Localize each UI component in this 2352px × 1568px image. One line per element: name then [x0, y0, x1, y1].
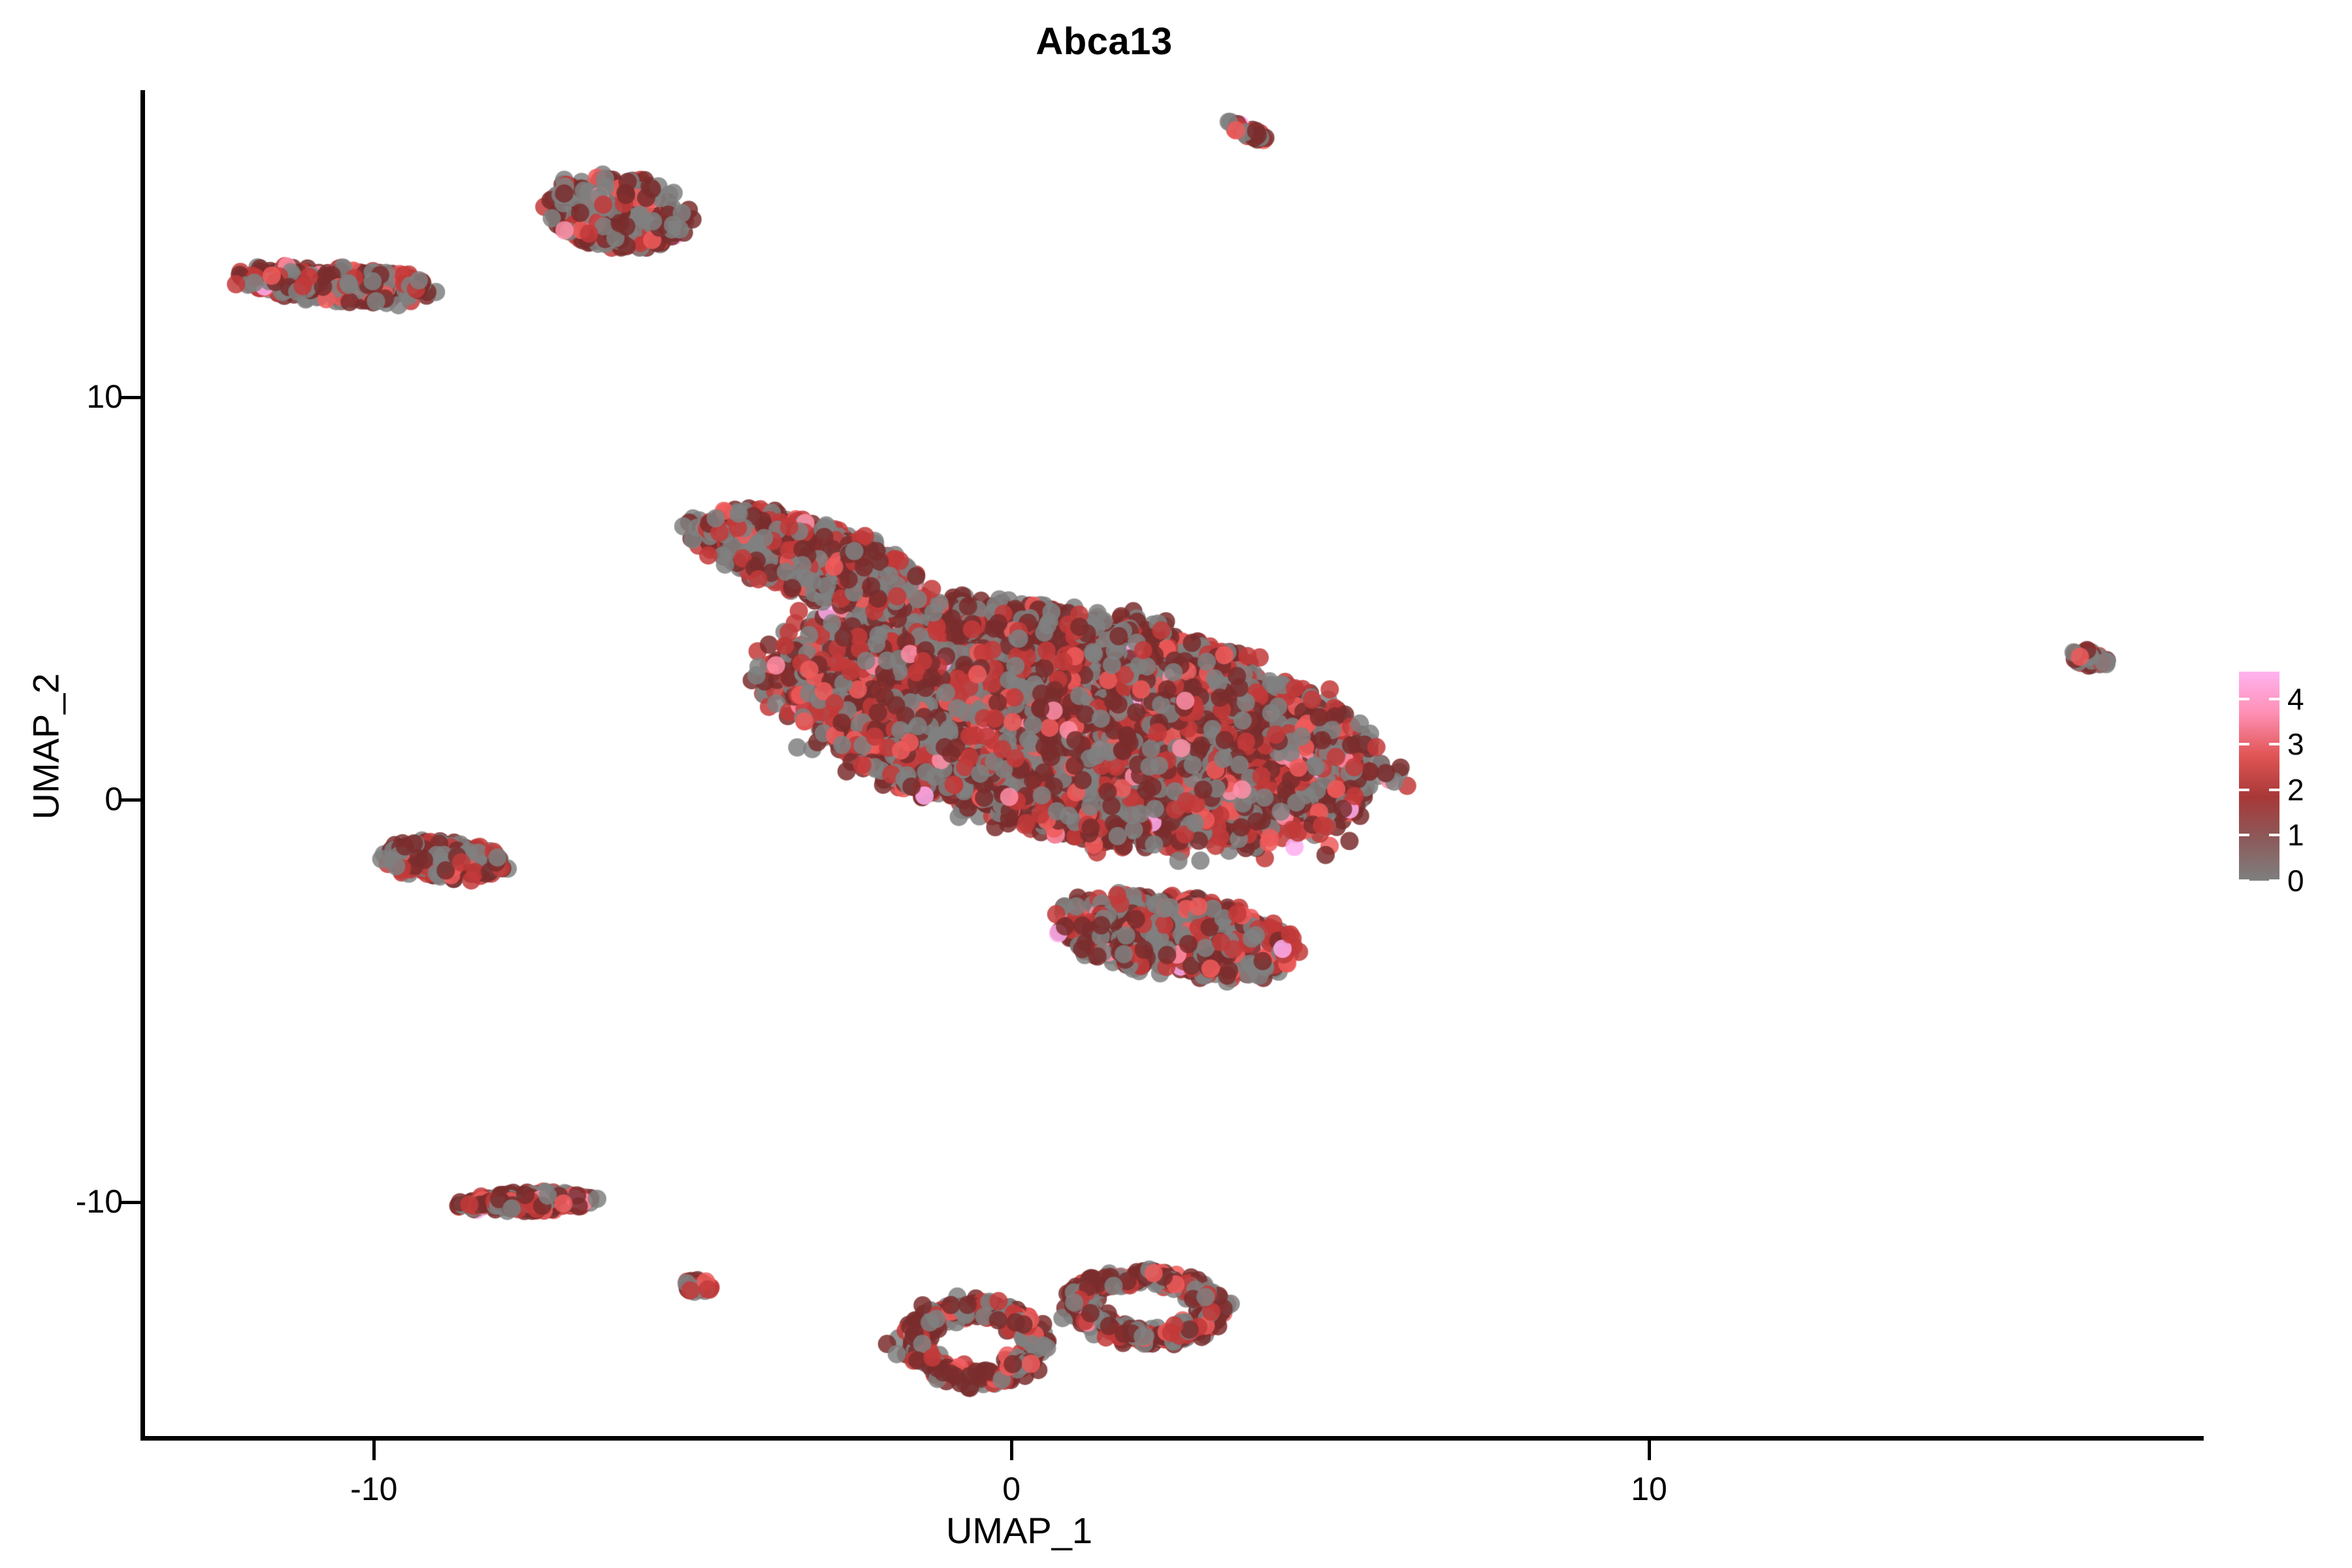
legend-colorbar	[2239, 672, 2279, 881]
x-tick-label: 0	[1002, 1470, 1021, 1508]
x-axis-title: UMAP_1	[849, 1509, 1189, 1552]
legend-tick-mark	[2239, 743, 2249, 745]
x-tick-label: -10	[350, 1470, 397, 1508]
legend-tick-mark	[2269, 879, 2279, 882]
y-tick-label: 0	[105, 780, 123, 818]
legend-tick-label: 4	[2287, 681, 2304, 717]
page-title: Abca13	[0, 20, 2208, 63]
legend-tick-mark	[2269, 789, 2279, 791]
legend-tick-label: 3	[2287, 727, 2304, 762]
y-axis-title: UMAP_2	[25, 616, 67, 877]
legend-tick-label: 1	[2287, 817, 2304, 853]
y-tick-mark	[121, 1201, 140, 1204]
y-tick-label: -10	[76, 1183, 123, 1220]
legend-tick-mark	[2269, 698, 2279, 700]
y-tick-label: 10	[86, 378, 123, 416]
y-tick-mark	[121, 396, 140, 399]
legend-tick-label: 0	[2287, 863, 2304, 898]
legend-tick-mark	[2269, 743, 2279, 745]
legend-tick-label: 2	[2287, 772, 2304, 808]
legend-tick-mark	[2269, 834, 2279, 836]
x-tick-mark	[1648, 1441, 1651, 1460]
x-tick-mark	[372, 1441, 376, 1460]
color-legend: 43210	[2239, 672, 2317, 882]
plot-panel	[144, 91, 2204, 1439]
legend-tick-mark	[2239, 834, 2249, 836]
y-tick-mark	[121, 798, 140, 802]
legend-tick-mark	[2239, 789, 2249, 791]
x-tick-mark	[1010, 1441, 1013, 1460]
x-tick-label: 10	[1631, 1470, 1667, 1508]
legend-tick-mark	[2239, 698, 2249, 700]
x-axis-line	[140, 1436, 2204, 1441]
scatter-canvas	[144, 91, 2204, 1439]
legend-tick-mark	[2239, 879, 2249, 882]
umap-feature-plot: Abca13 100-10-10010 UMAP_2 UMAP_1 43210	[0, 0, 2352, 1568]
y-axis-line	[140, 90, 145, 1441]
